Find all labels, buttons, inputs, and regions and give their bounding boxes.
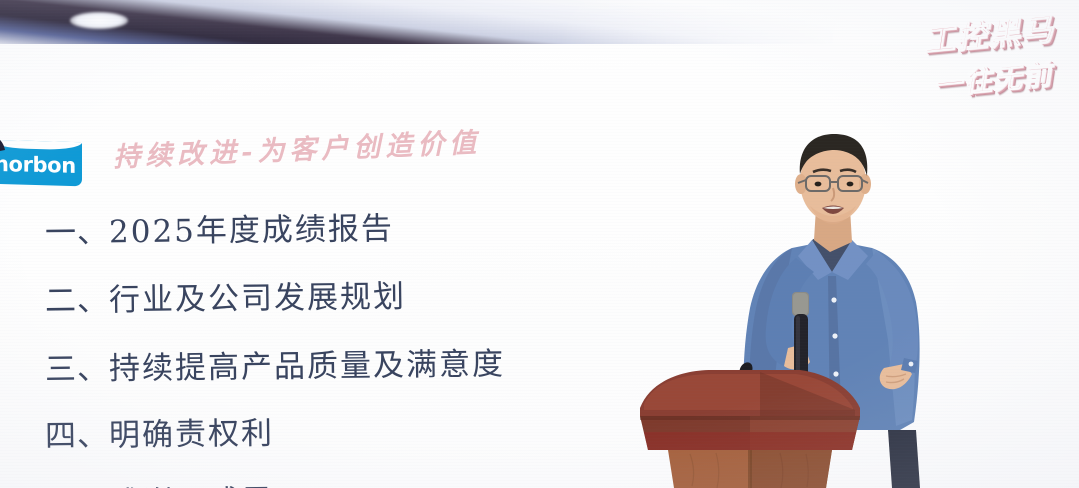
presentation-photo: horbon 持续改进-为客户创造价值 一、2025年度成绩报告 二、行业及公司…: [0, 0, 1079, 488]
ceiling-light: [70, 12, 128, 29]
agenda-item-number: 一、: [45, 214, 109, 251]
logo-wordmark: horbon: [0, 154, 88, 177]
agenda-item-label: 2025年度成绩报告: [109, 211, 394, 250]
brand-logo: horbon: [0, 127, 82, 185]
slide-headline: 持续改进-为客户创造价值: [112, 121, 481, 175]
agenda-item-label: 感谢、感恩: [109, 484, 274, 488]
agenda-item-3: 三、持续提高产品质量及满意度: [45, 349, 505, 386]
agenda-item-label: 明确责权利: [109, 416, 274, 454]
agenda-item-label: 持续提高产品质量及满意度: [109, 346, 505, 387]
agenda-item-number: 二、: [45, 282, 109, 319]
agenda-item-4: 四、明确责权利: [45, 419, 274, 453]
agenda-item-label: 行业及公司发展规划: [109, 279, 406, 319]
lectern: [620, 358, 920, 488]
agenda-item-number: 三、: [45, 351, 109, 388]
agenda-item-2: 二、行业及公司发展规划: [45, 282, 406, 317]
agenda-item-1: 一、2025年度成绩报告: [45, 214, 394, 249]
agenda-item-number: 四、: [45, 418, 109, 455]
